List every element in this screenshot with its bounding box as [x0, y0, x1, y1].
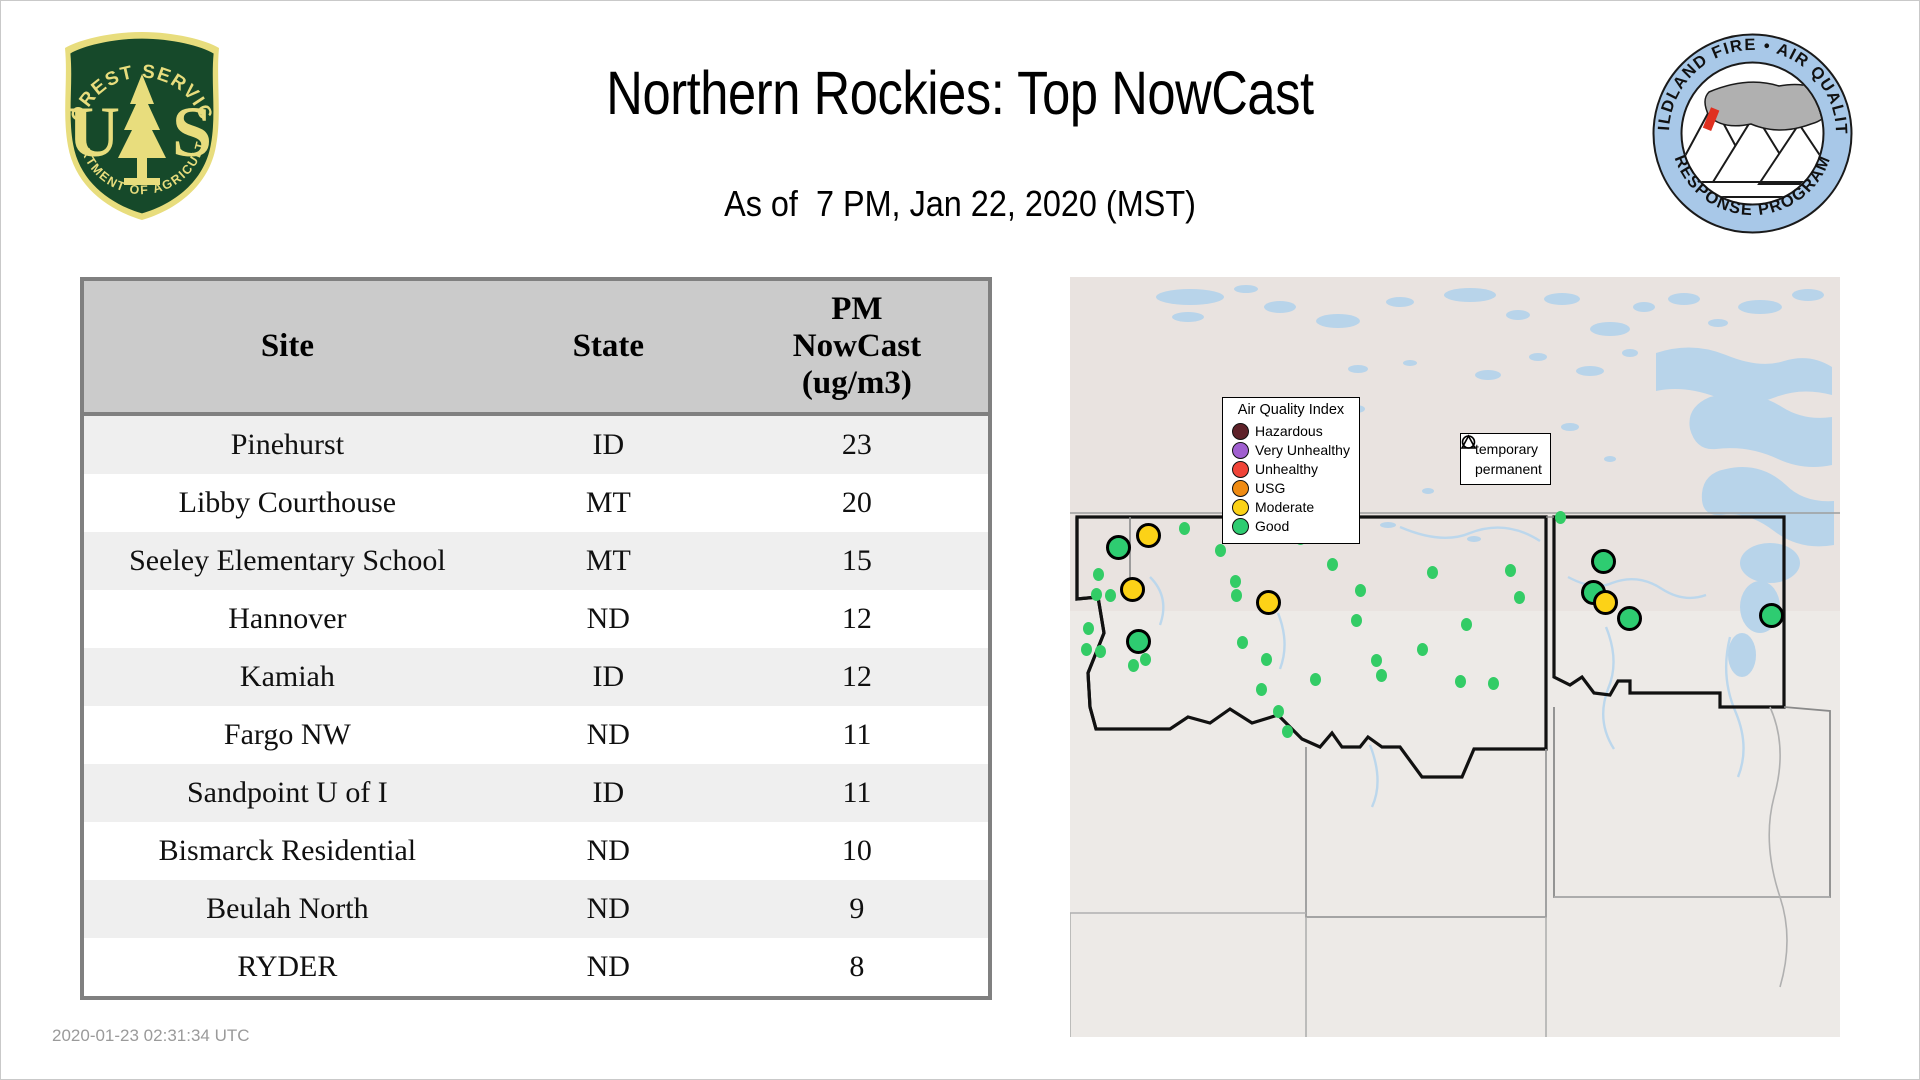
monitor-dot-small[interactable] [1327, 558, 1338, 571]
monitor-dot-small[interactable] [1417, 643, 1428, 656]
monitor-dot-small[interactable] [1351, 614, 1362, 627]
site-cell: RYDER [84, 938, 491, 996]
monitor-dot-small[interactable] [1179, 522, 1190, 535]
state-cell: ND [491, 822, 726, 880]
table-row[interactable]: Bismarck ResidentialND10 [84, 822, 988, 880]
lower-states-lines [1070, 913, 1306, 1037]
nowcast-table-container: Site State PM NowCast (ug/m3) PinehurstI… [80, 277, 992, 1000]
monitor-dot-small[interactable] [1371, 654, 1382, 667]
value-cell: 12 [726, 590, 988, 648]
monitor-marker-large[interactable] [1136, 523, 1161, 548]
aqi-legend-item: Moderate [1232, 498, 1350, 517]
table-row[interactable]: Seeley Elementary SchoolMT15 [84, 532, 988, 590]
aqi-color-swatch-icon [1232, 480, 1249, 497]
state-cell: ID [491, 414, 726, 474]
aqi-legend: Air Quality Index HazardousVery Unhealth… [1222, 397, 1360, 544]
site-cell: Hannover [84, 590, 491, 648]
table-header-row: Site State PM NowCast (ug/m3) [84, 281, 988, 414]
state-cell: MT [491, 532, 726, 590]
aqi-legend-item: Very Unhealthy [1232, 441, 1350, 460]
table-row[interactable]: Fargo NWND11 [84, 706, 988, 764]
monitor-marker-large[interactable] [1106, 535, 1131, 560]
monitor-dot-small[interactable] [1355, 584, 1366, 597]
aqi-legend-items: HazardousVery UnhealthyUnhealthyUSGModer… [1232, 422, 1350, 536]
aqi-legend-item: Good [1232, 517, 1350, 536]
triangle-icon [1461, 434, 1840, 1037]
monitor-marker-large[interactable] [1126, 629, 1151, 654]
column-header-state[interactable]: State [491, 281, 726, 414]
monitor-dot-small[interactable] [1237, 636, 1248, 649]
aqi-legend-title: Air Quality Index [1232, 403, 1350, 418]
nowcast-table: Site State PM NowCast (ug/m3) PinehurstI… [84, 281, 988, 996]
page-subtitle: As of 7 PM, Jan 22, 2020 (MST) [420, 183, 1500, 225]
aqi-legend-label: Moderate [1255, 500, 1314, 514]
monitor-dot-small[interactable] [1310, 673, 1321, 686]
monitor-marker-large[interactable] [1256, 590, 1281, 615]
monitor-dot-small[interactable] [1091, 588, 1102, 601]
aqi-legend-item: Unhealthy [1232, 460, 1350, 479]
site-cell: Pinehurst [84, 414, 491, 474]
site-cell: Bismarck Residential [84, 822, 491, 880]
monitor-marker-large[interactable] [1120, 577, 1145, 602]
column-header-pm-line1: PM [730, 291, 984, 328]
column-header-pm-line2: NowCast [730, 328, 984, 365]
monitor-dot-small[interactable] [1261, 653, 1272, 666]
table-row[interactable]: Sandpoint U of IID11 [84, 764, 988, 822]
site-cell: Kamiah [84, 648, 491, 706]
site-cell: Seeley Elementary School [84, 532, 491, 590]
monitor-type-legend: temporary permanent [1460, 433, 1551, 485]
site-cell: Sandpoint U of I [84, 764, 491, 822]
monitor-dot-small[interactable] [1128, 659, 1139, 672]
monitor-dot-small[interactable] [1215, 544, 1226, 557]
value-cell: 10 [726, 822, 988, 880]
legend-permanent-row: permanent [1469, 459, 1542, 479]
site-cell: Libby Courthouse [84, 474, 491, 532]
state-cell: ND [491, 938, 726, 996]
monitor-dot-small[interactable] [1282, 725, 1293, 738]
aqi-color-swatch-icon [1232, 442, 1249, 459]
state-cell: ID [491, 764, 726, 822]
aqi-legend-label: Good [1255, 519, 1289, 533]
monitor-dot-small[interactable] [1427, 566, 1438, 579]
table-row[interactable]: RYDERND8 [84, 938, 988, 996]
aqi-color-swatch-icon [1232, 499, 1249, 516]
value-cell: 20 [726, 474, 988, 532]
table-row[interactable]: KamiahID12 [84, 648, 988, 706]
table-header: Site State PM NowCast (ug/m3) [84, 281, 988, 414]
value-cell: 8 [726, 938, 988, 996]
table-row[interactable]: PinehurstID23 [84, 414, 988, 474]
table-row[interactable]: Libby CourthouseMT20 [84, 474, 988, 532]
page-title: Northern Rockies: Top NowCast [462, 58, 1458, 128]
aqi-color-swatch-icon [1232, 461, 1249, 478]
aqi-legend-label: Hazardous [1255, 424, 1323, 438]
value-cell: 11 [726, 764, 988, 822]
state-cell: ND [491, 880, 726, 938]
usfs-letter-u: U [68, 92, 120, 172]
value-cell: 12 [726, 648, 988, 706]
column-header-site[interactable]: Site [84, 281, 491, 414]
monitor-dot-small[interactable] [1105, 589, 1116, 602]
monitor-dot-small[interactable] [1095, 645, 1106, 658]
monitor-dot-small[interactable] [1140, 653, 1151, 666]
monitor-dot-small[interactable] [1230, 575, 1241, 588]
aqi-color-swatch-icon [1232, 518, 1249, 535]
state-cell: ID [491, 648, 726, 706]
aqi-color-swatch-icon [1232, 423, 1249, 440]
monitor-dot-small[interactable] [1376, 669, 1387, 682]
value-cell: 9 [726, 880, 988, 938]
value-cell: 23 [726, 414, 988, 474]
aqi-legend-label: Unhealthy [1255, 462, 1318, 476]
usfs-letter-s: S [172, 92, 212, 172]
table-row[interactable]: Beulah NorthND9 [84, 880, 988, 938]
value-cell: 11 [726, 706, 988, 764]
aqi-legend-item: Hazardous [1232, 422, 1350, 441]
table-body: PinehurstID23Libby CourthouseMT20Seeley … [84, 414, 988, 996]
state-cell: ND [491, 590, 726, 648]
aqi-legend-label: Very Unhealthy [1255, 443, 1350, 457]
monitor-dot-small[interactable] [1083, 622, 1094, 635]
column-header-pm-nowcast[interactable]: PM NowCast (ug/m3) [726, 281, 988, 414]
air-quality-map[interactable]: Air Quality Index HazardousVery Unhealth… [1070, 277, 1840, 1037]
monitor-dot-small[interactable] [1273, 705, 1284, 718]
monitor-dot-small[interactable] [1093, 568, 1104, 581]
monitor-dot-small[interactable] [1081, 643, 1092, 656]
column-header-pm-line3: (ug/m3) [730, 365, 984, 402]
site-cell: Fargo NW [84, 706, 491, 764]
aqi-legend-item: USG [1232, 479, 1350, 498]
state-cell: MT [491, 474, 726, 532]
monitor-dot-small[interactable] [1256, 683, 1267, 696]
footer-timestamp: 2020-01-23 02:31:34 UTC [52, 1026, 250, 1046]
monitor-dot-small[interactable] [1231, 589, 1242, 602]
table-row[interactable]: HannoverND12 [84, 590, 988, 648]
site-cell: Beulah North [84, 880, 491, 938]
wildland-fire-air-quality-response-program-logo: WILDLAND FIRE • AIR QUALITY RESPONSE PRO… [1651, 32, 1854, 235]
usfs-shield-logo: FOREST SERVICE DEPARTMENT OF AGRICULTURE… [56, 28, 228, 224]
state-cell: ND [491, 706, 726, 764]
aqi-legend-label: USG [1255, 481, 1285, 495]
value-cell: 15 [726, 532, 988, 590]
